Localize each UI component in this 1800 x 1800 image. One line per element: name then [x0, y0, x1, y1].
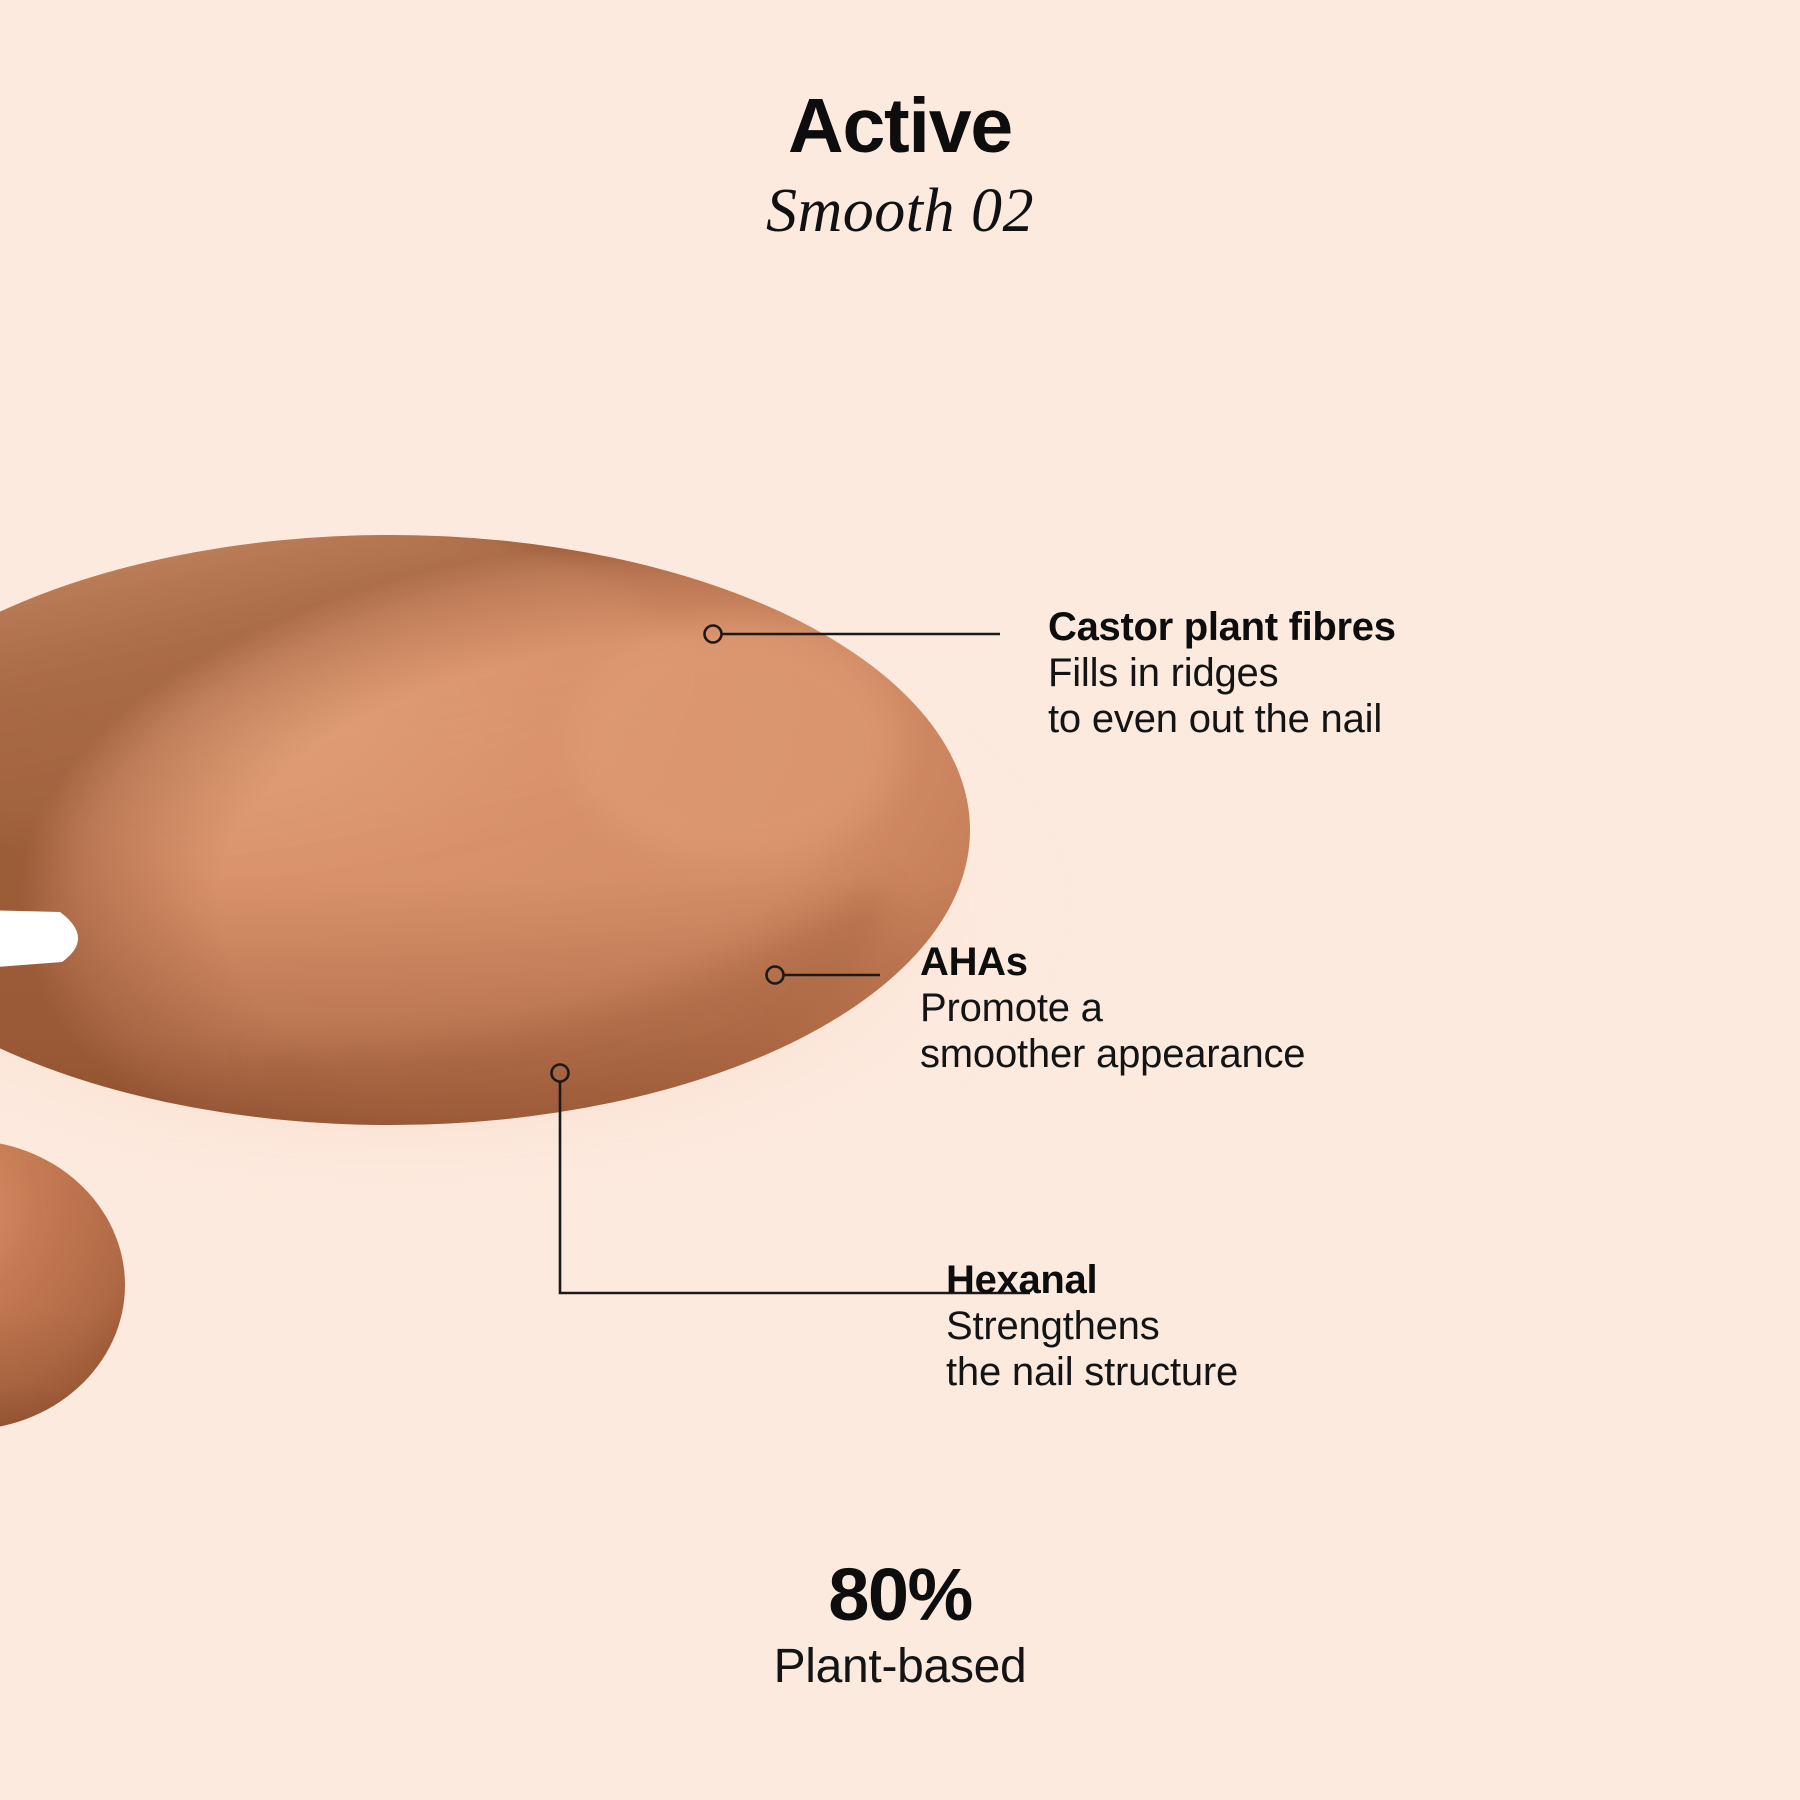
plant-based-label: Plant-based [0, 1638, 1800, 1696]
callout-castor: Castor plant fibres Fills in ridges to e… [1048, 605, 1396, 743]
nail-polish-droplet-large [0, 495, 970, 1125]
product-infographic: Active Smooth 02 Castor plant fibres Fil… [0, 0, 1800, 1800]
specular-highlight [0, 905, 78, 985]
leader-line-castor [705, 626, 1001, 643]
headline-secondary: Smooth 02 [0, 173, 1800, 251]
callout-hexanal: Hexanal Strengthens the nail structure [946, 1258, 1238, 1396]
callout-ahas-line-1: Promote a [920, 985, 1305, 1031]
droplet-ambient-shadow [0, 605, 1050, 1205]
callout-hexanal-line-2: the nail structure [946, 1349, 1238, 1395]
page-title: Active Smooth 02 [0, 88, 1800, 251]
callout-hexanal-line-1: Strengthens [946, 1303, 1238, 1349]
plant-based-stat: 80% Plant-based [0, 1556, 1800, 1695]
leader-line-ahas [767, 967, 881, 984]
callout-castor-title: Castor plant fibres [1048, 605, 1396, 650]
callout-castor-line-1: Fills in ridges [1048, 650, 1396, 696]
callout-castor-line-2: to even out the nail [1048, 696, 1396, 742]
callout-ahas-title: AHAs [920, 940, 1305, 985]
headline-primary: Active [0, 88, 1800, 165]
nail-polish-droplet-small [0, 1130, 125, 1430]
callout-hexanal-title: Hexanal [946, 1258, 1238, 1303]
plant-based-value: 80% [0, 1556, 1800, 1634]
callout-ahas: AHAs Promote a smoother appearance [920, 940, 1305, 1078]
artwork-layer [0, 0, 1800, 1800]
callout-ahas-line-2: smoother appearance [920, 1031, 1305, 1077]
